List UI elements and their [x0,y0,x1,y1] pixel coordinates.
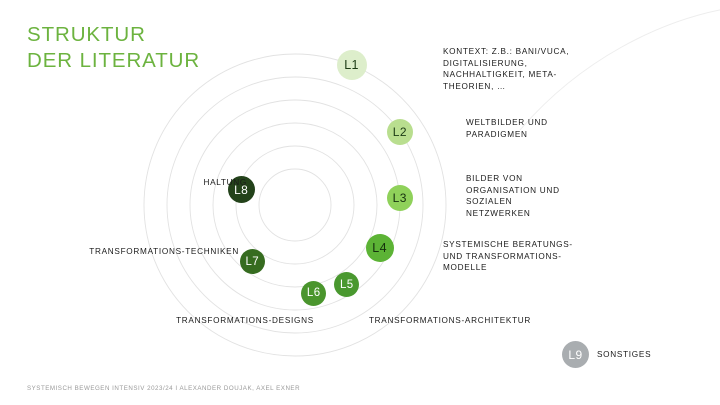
layer-code-l4: L4 [372,241,387,255]
layer-marker-l9[interactable]: L9 [562,341,589,368]
layer-code-l5: L5 [340,279,354,291]
layer-label-l7: TRANSFORMATIONS-TECHNIKEN [89,246,239,258]
layer-label-l5: TRANSFORMATIONS-ARCHITEKTUR [350,315,550,327]
layer-label-l9: SONSTIGES [597,349,651,361]
layer-code-l2: L2 [393,125,407,139]
layer-label-l2: WELTBILDER UND PARADIGMEN [466,117,548,140]
layer-marker-l4[interactable]: L4 [366,234,394,262]
layer-label-l1: KONTEXT: Z.B.: BANI/VUCA, DIGITALISIERUN… [443,46,569,93]
layer-marker-l6[interactable]: L6 [301,281,326,306]
layer-label-l8: HALTUNG [203,177,247,189]
layer-code-l9: L9 [568,348,582,362]
layer-code-l3: L3 [393,191,407,205]
layer-marker-l2[interactable]: L2 [387,119,413,145]
layer-label-l6: TRANSFORMATIONS-DESIGNS [155,315,335,327]
layer-label-l4: SYSTEMISCHE BERATUNGS- UND TRANSFORMATIO… [443,239,573,274]
footer-credit: SYSTEMISCH BEWEGEN INTENSIV 2023/24 I AL… [27,385,300,392]
layer-marker-l7[interactable]: L7 [240,249,265,274]
layer-marker-l3[interactable]: L3 [387,185,413,211]
layer-code-l7: L7 [245,256,259,268]
layer-marker-l1[interactable]: L1 [337,50,367,80]
slide-canvas: STRUKTUR DER LITERATUR L1 L2 L3 L4 L5 L6… [0,0,720,405]
layer-code-l1: L1 [344,58,359,72]
layer-label-l3: BILDER VON ORGANISATION UND SOZIALEN NET… [466,173,560,220]
layer-code-l6: L6 [307,287,321,299]
